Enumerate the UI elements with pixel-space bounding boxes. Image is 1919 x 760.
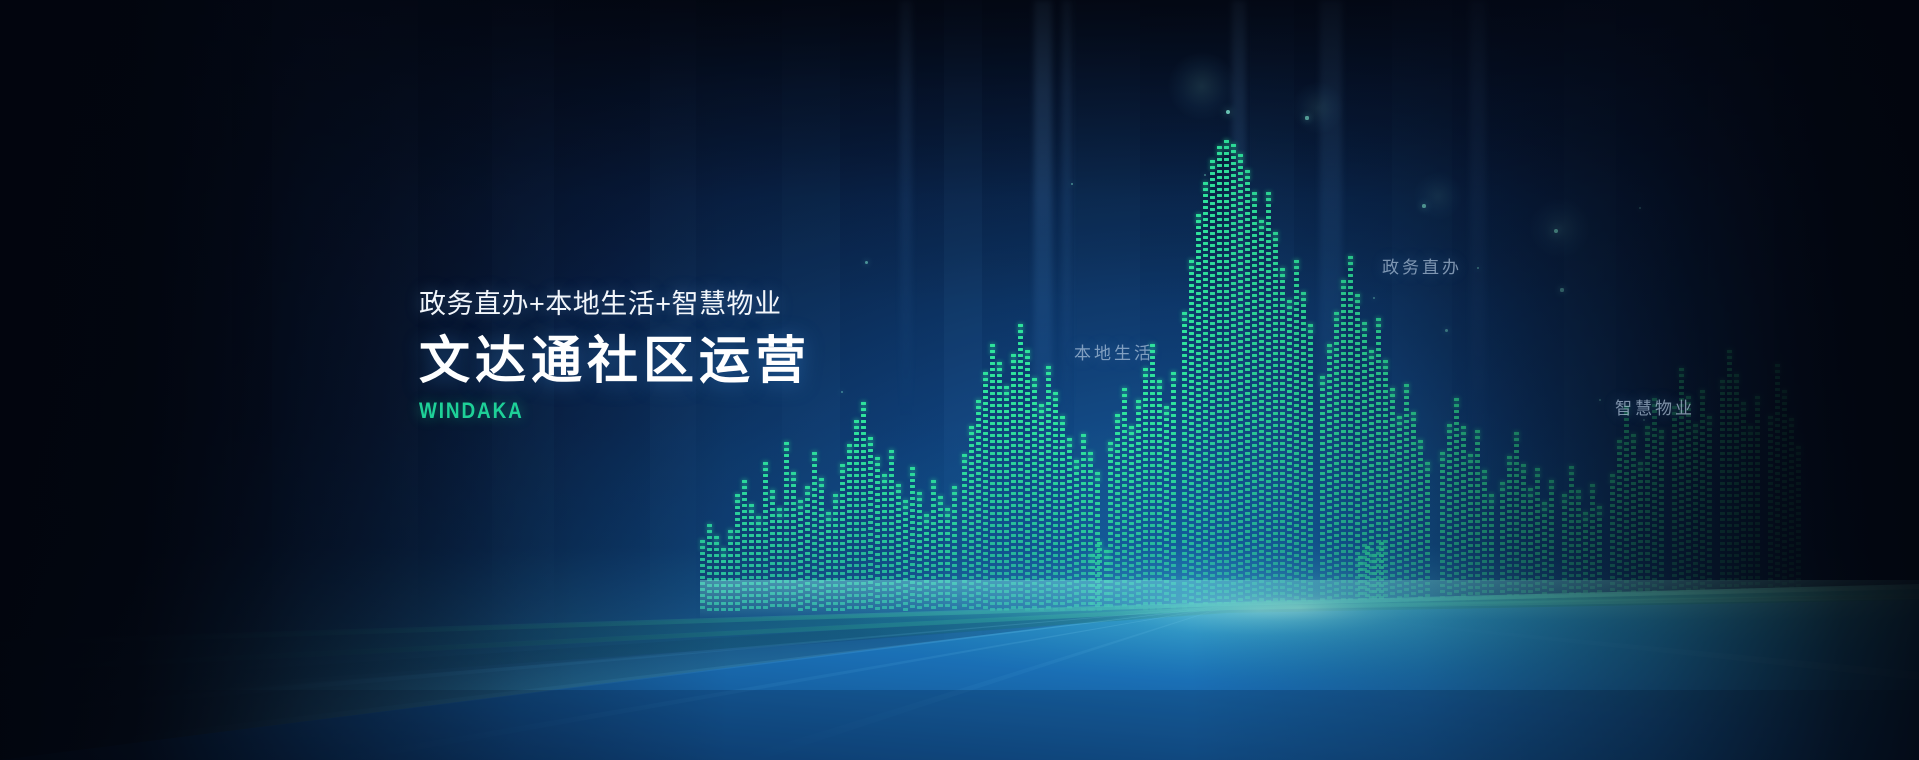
hero-banner: 政务直办本地生活智慧物业 政务直办+本地生活+智慧物业 文达通社区运营 WIND…: [0, 0, 1919, 760]
